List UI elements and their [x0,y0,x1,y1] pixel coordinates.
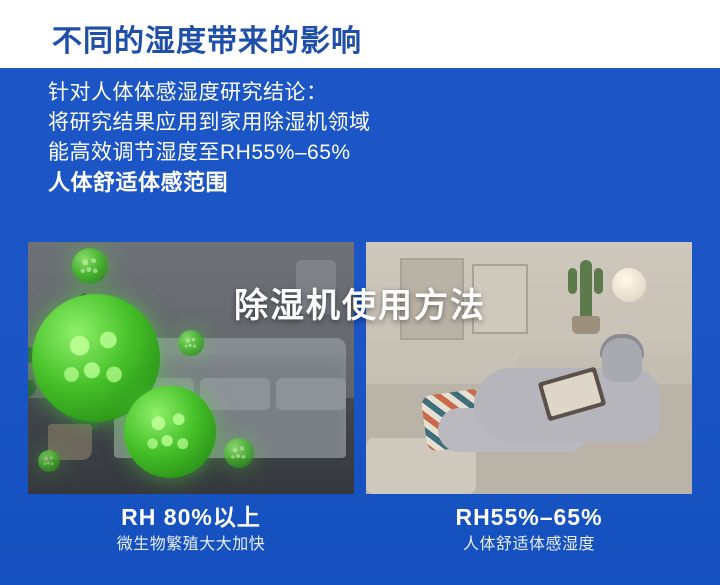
wall-picture-frame [472,264,528,334]
caption-left-sub: 微生物繁殖大大加快 [28,532,354,558]
caption-right-sub: 人体舒适体感湿度 [366,532,692,558]
intro-line-1: 针对人体体感湿度研究结论： [48,78,678,108]
left-lamp [296,260,336,314]
caption-left-main: RH 80%以上 [28,502,354,532]
intro-line-4: 人体舒适体感范围 [48,168,678,198]
bacteria-blob-icon [38,450,60,472]
bacteria-blob-icon [224,438,254,468]
cactus-pot [572,316,600,334]
wall-lamp-icon [612,268,646,302]
woman-reading-on-sofa-photo [366,242,692,494]
poster-page: 不同的湿度带来的影响 针对人体体感湿度研究结论： 将研究结果应用到家用除湿机领域… [0,0,720,585]
intro-line-2: 将研究结果应用到家用除湿机领域 [48,108,678,138]
caption-row: RH 80%以上 微生物繁殖大大加快 RH55%–65% 人体舒适体感湿度 [28,502,692,558]
cactus-arm [594,268,603,294]
left-scene-background [28,242,354,494]
caption-right-main: RH55%–65% [366,502,692,532]
cactus-plant [562,250,608,334]
cactus-arm [568,268,577,294]
intro-line-3: 能高效调节湿度至RH55%–65% [48,138,678,168]
header-band: 不同的湿度带来的影响 [0,0,720,68]
bacteria-blob-icon [72,248,108,284]
caption-left: RH 80%以上 微生物繁殖大大加快 [28,502,354,558]
intro-text-block: 针对人体体感湿度研究结论： 将研究结果应用到家用除湿机领域 能高效调节湿度至RH… [48,78,678,198]
bacteria-blob-icon [178,330,204,356]
wall-picture-frame [400,258,464,340]
mold-bacteria-on-sofa-photo [28,242,354,494]
left-cushion-3 [276,378,346,410]
person-head [602,338,642,382]
cactus-stem [580,260,592,320]
photo-row [28,242,692,494]
caption-right: RH55%–65% 人体舒适体感湿度 [366,502,692,558]
left-cushion-2 [200,378,270,410]
bacteria-blob-icon [124,386,216,478]
page-title: 不同的湿度带来的影响 [52,16,362,60]
right-scene-background [366,242,692,494]
